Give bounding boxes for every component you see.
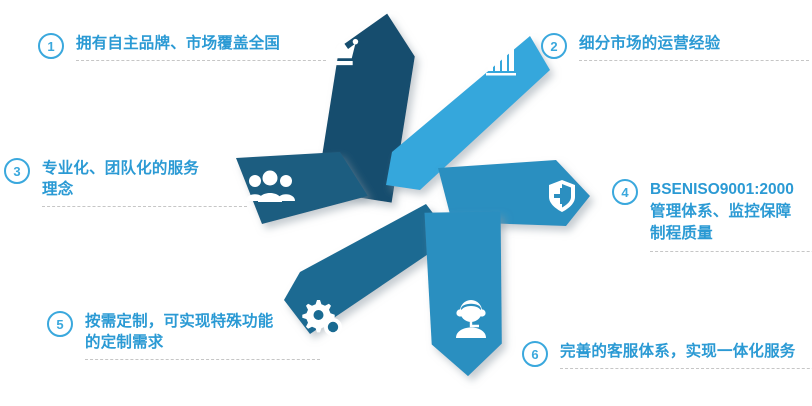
- feature-text-line: 制程质量: [650, 223, 812, 245]
- feature-text-line: 专业化、团队化的服务: [42, 158, 247, 179]
- feature-text-line: 完善的客服体系，实现一体化服务: [560, 341, 812, 362]
- feature-text-line: 按需定制，可实现特殊功能: [85, 311, 320, 332]
- arrow-6-support: [423, 207, 512, 378]
- feature-number-badge: 5: [47, 311, 73, 337]
- feature-body: 专业化、团队化的服务 理念: [42, 158, 247, 207]
- feature-body: 完善的客服体系，实现一体化服务: [560, 341, 812, 369]
- feature-text: 完善的客服体系，实现一体化服务: [560, 341, 812, 362]
- feature-item-5[interactable]: 5 按需定制，可实现特殊功能 的定制需求: [47, 311, 320, 360]
- feature-number-badge: 4: [612, 179, 638, 205]
- feature-body: 拥有自主品牌、市场覆盖全国: [76, 33, 326, 61]
- feature-body: 按需定制，可实现特殊功能 的定制需求: [85, 311, 320, 360]
- feature-text-line: 细分市场的运营经验: [579, 33, 809, 54]
- feature-text-line: 理念: [42, 179, 247, 200]
- feature-number-badge: 3: [4, 158, 30, 184]
- feature-number-badge: 6: [522, 341, 548, 367]
- feature-text-line: 拥有自主品牌、市场覆盖全国: [76, 33, 326, 54]
- feature-text-line: 的定制需求: [85, 332, 320, 353]
- dashed-underline: [85, 359, 320, 360]
- feature-text: 细分市场的运营经验: [579, 33, 809, 54]
- feature-number-badge: 1: [38, 33, 64, 59]
- dashed-underline: [650, 251, 812, 252]
- feature-text-line: 管理体系、监控保障: [650, 201, 812, 223]
- feature-item-2[interactable]: 2 细分市场的运营经验: [541, 33, 809, 61]
- feature-text: 拥有自主品牌、市场覆盖全国: [76, 33, 326, 54]
- feature-text: 专业化、团队化的服务 理念: [42, 158, 247, 200]
- feature-text-line: BSENISO9001:2000: [650, 179, 812, 201]
- dashed-underline: [579, 60, 809, 61]
- infographic-canvas: 1 拥有自主品牌、市场覆盖全国 2 细分市场的运营经验 3 专业化、团队化的服务…: [0, 0, 812, 406]
- feature-body: 细分市场的运营经验: [579, 33, 809, 61]
- feature-body: BSENISO9001:2000 管理体系、监控保障 制程质量: [650, 179, 812, 252]
- feature-item-1[interactable]: 1 拥有自主品牌、市场覆盖全国: [38, 33, 326, 61]
- feature-number-badge: 2: [541, 33, 567, 59]
- feature-item-3[interactable]: 3 专业化、团队化的服务 理念: [4, 158, 247, 207]
- dashed-underline: [42, 206, 247, 207]
- feature-item-6[interactable]: 6 完善的客服体系，实现一体化服务: [522, 341, 812, 369]
- feature-item-4[interactable]: 4 BSENISO9001:2000 管理体系、监控保障 制程质量: [612, 179, 812, 252]
- dashed-underline: [560, 368, 812, 369]
- dashed-underline: [76, 60, 326, 61]
- feature-text: BSENISO9001:2000 管理体系、监控保障 制程质量: [650, 179, 812, 245]
- feature-text: 按需定制，可实现特殊功能 的定制需求: [85, 311, 320, 353]
